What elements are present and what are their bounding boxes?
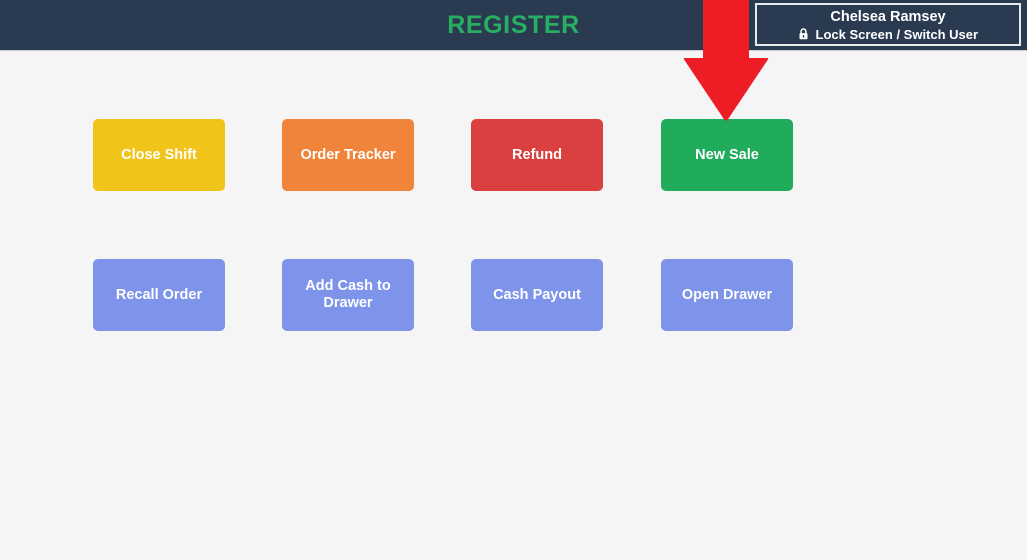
register-action-cash-payout[interactable]: Cash Payout bbox=[471, 259, 603, 331]
register-action-order-tracker[interactable]: Order Tracker bbox=[282, 119, 414, 191]
register-action-new-sale[interactable]: New Sale bbox=[661, 119, 793, 191]
register-action-label: New Sale bbox=[695, 147, 759, 164]
register-action-label: Refund bbox=[512, 147, 562, 164]
lock-screen-switch-user-label: Lock Screen / Switch User bbox=[816, 27, 979, 42]
lock-icon bbox=[798, 27, 809, 44]
lock-screen-switch-user-button[interactable]: Lock Screen / Switch User bbox=[757, 26, 1019, 44]
register-action-label: Close Shift bbox=[121, 147, 197, 164]
user-session-box[interactable]: Chelsea Ramsey Lock Screen / Switch User bbox=[755, 3, 1021, 46]
register-action-label: Add Cash to Drawer bbox=[288, 278, 408, 312]
register-action-label: Open Drawer bbox=[682, 287, 772, 304]
user-name: Chelsea Ramsey bbox=[757, 8, 1019, 26]
register-action-refund[interactable]: Refund bbox=[471, 119, 603, 191]
register-action-close-shift[interactable]: Close Shift bbox=[93, 119, 225, 191]
register-action-open-drawer[interactable]: Open Drawer bbox=[661, 259, 793, 331]
register-action-recall-order[interactable]: Recall Order bbox=[93, 259, 225, 331]
register-action-add-cash-to-drawer[interactable]: Add Cash to Drawer bbox=[282, 259, 414, 331]
register-action-label: Recall Order bbox=[116, 287, 202, 304]
register-action-label: Order Tracker bbox=[300, 147, 395, 164]
register-action-label: Cash Payout bbox=[493, 287, 581, 304]
